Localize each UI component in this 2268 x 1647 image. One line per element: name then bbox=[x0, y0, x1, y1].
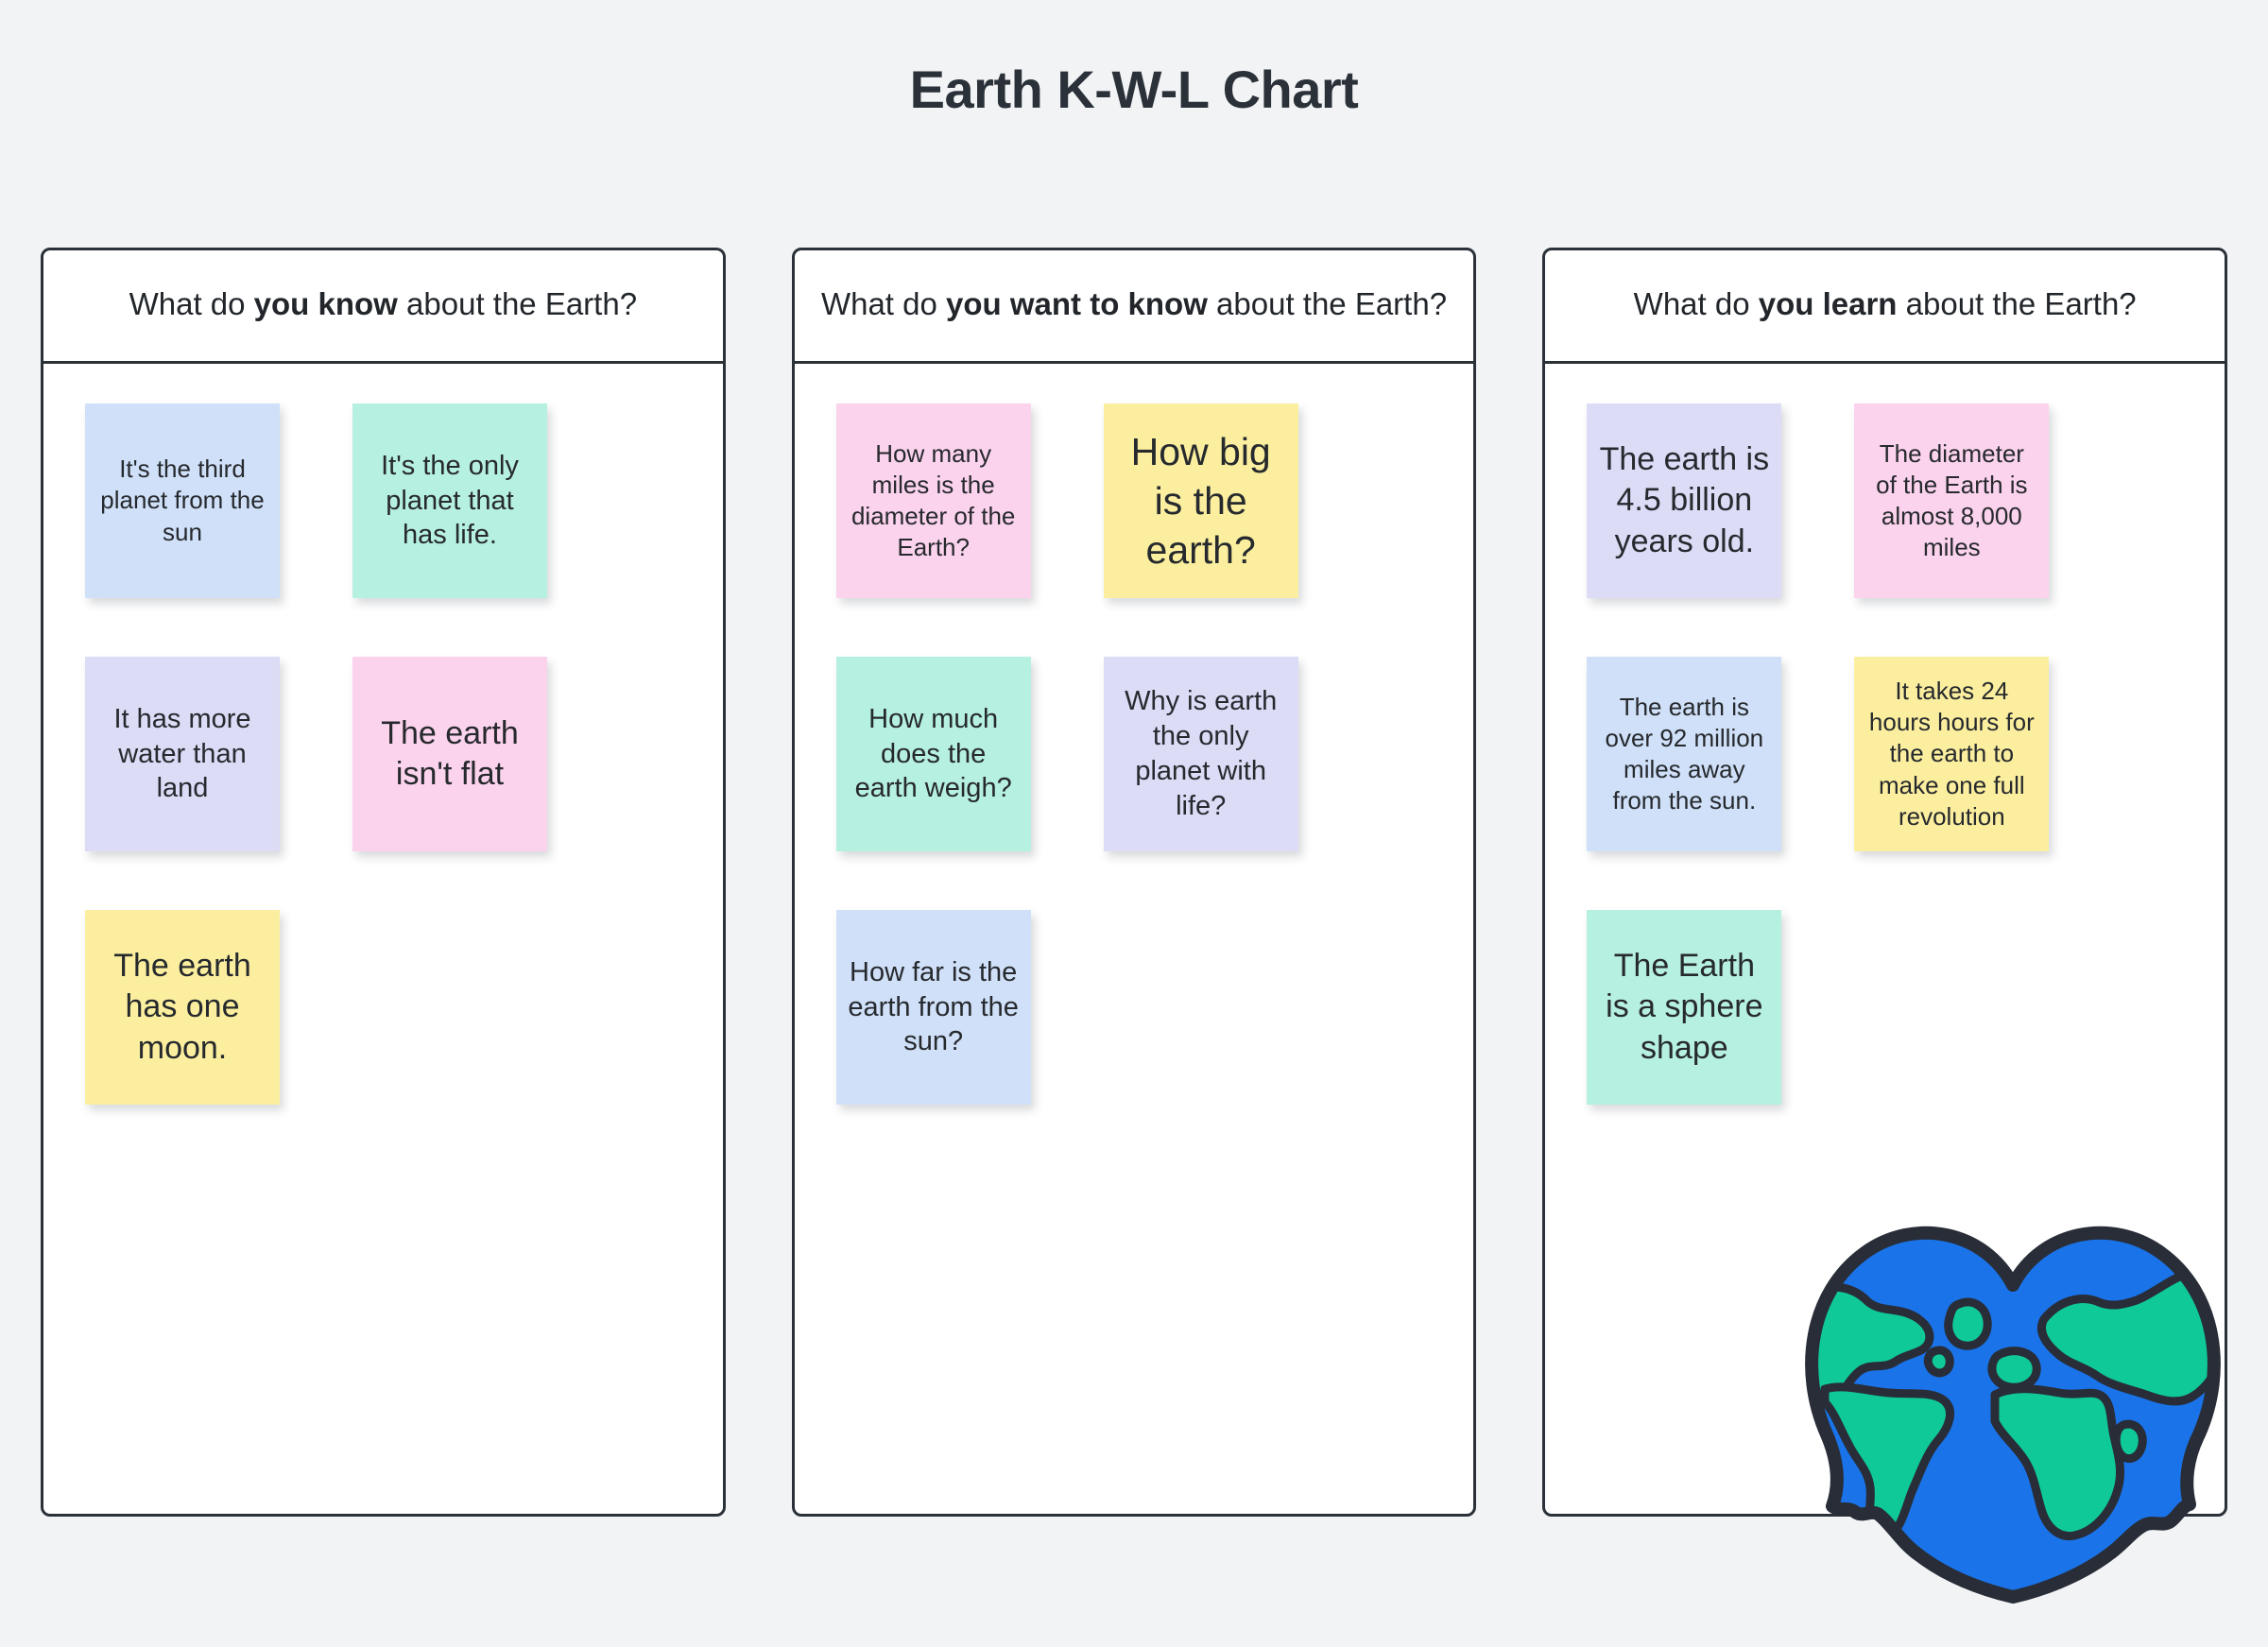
column-know: What do you know about the Earth? It's t… bbox=[41, 248, 726, 1517]
column-header-learn: What do you learn about the Earth? bbox=[1545, 250, 2225, 364]
column-body-want-to-know: How many miles is the diameter of the Ea… bbox=[795, 364, 1474, 1514]
notes-grid-want-to-know: How many miles is the diameter of the Ea… bbox=[836, 403, 1433, 1105]
header-suffix: about the Earth? bbox=[1897, 286, 2136, 321]
header-prefix: What do bbox=[129, 286, 254, 321]
column-learn: What do you learn about the Earth? The e… bbox=[1542, 248, 2227, 1517]
column-want-to-know: What do you want to know about the Earth… bbox=[792, 248, 1477, 1517]
column-header-know: What do you know about the Earth? bbox=[43, 250, 723, 364]
notes-grid-know: It's the third planet from the sun It's … bbox=[85, 403, 681, 1105]
header-suffix: about the Earth? bbox=[398, 286, 637, 321]
sticky-note[interactable]: The earth is 4.5 billion years old. bbox=[1587, 403, 1781, 598]
column-body-know: It's the third planet from the sun It's … bbox=[43, 364, 723, 1514]
sticky-note[interactable]: Why is earth the only planet with life? bbox=[1104, 657, 1298, 851]
sticky-note[interactable]: It's the third planet from the sun bbox=[85, 403, 280, 598]
header-prefix: What do bbox=[1634, 286, 1759, 321]
sticky-note[interactable]: How many miles is the diameter of the Ea… bbox=[836, 403, 1031, 598]
sticky-note[interactable]: The Earth is a sphere shape bbox=[1587, 910, 1781, 1105]
header-emphasis: you learn bbox=[1759, 286, 1898, 321]
sticky-note[interactable]: It takes 24 hours hours for the earth to… bbox=[1854, 657, 2049, 851]
sticky-note[interactable]: It has more water than land bbox=[85, 657, 280, 851]
kwl-board: What do you know about the Earth? It's t… bbox=[41, 248, 2227, 1517]
column-header-text: What do you know about the Earth? bbox=[129, 284, 637, 324]
sticky-note[interactable]: The earth isn't flat bbox=[352, 657, 547, 851]
column-header-text: What do you learn about the Earth? bbox=[1634, 284, 2137, 324]
column-header-want-to-know: What do you want to know about the Earth… bbox=[795, 250, 1474, 364]
header-emphasis: you want to know bbox=[946, 286, 1208, 321]
page-title: Earth K-W-L Chart bbox=[0, 59, 2268, 120]
sticky-note[interactable]: The earth is over 92 million miles away … bbox=[1587, 657, 1781, 851]
header-emphasis: you know bbox=[254, 286, 398, 321]
header-prefix: What do bbox=[821, 286, 946, 321]
sticky-note[interactable]: It's the only planet that has life. bbox=[352, 403, 547, 598]
column-header-text: What do you want to know about the Earth… bbox=[821, 284, 1447, 324]
sticky-note[interactable]: How big is the earth? bbox=[1104, 403, 1298, 598]
sticky-note[interactable]: The diameter of the Earth is almost 8,00… bbox=[1854, 403, 2049, 598]
notes-grid-learn: The earth is 4.5 billion years old. The … bbox=[1587, 403, 2183, 1105]
header-suffix: about the Earth? bbox=[1208, 286, 1447, 321]
column-body-learn: The earth is 4.5 billion years old. The … bbox=[1545, 364, 2225, 1514]
sticky-note[interactable]: The earth has one moon. bbox=[85, 910, 280, 1105]
sticky-note[interactable]: How far is the earth from the sun? bbox=[836, 910, 1031, 1105]
sticky-note[interactable]: How much does the earth weigh? bbox=[836, 657, 1031, 851]
